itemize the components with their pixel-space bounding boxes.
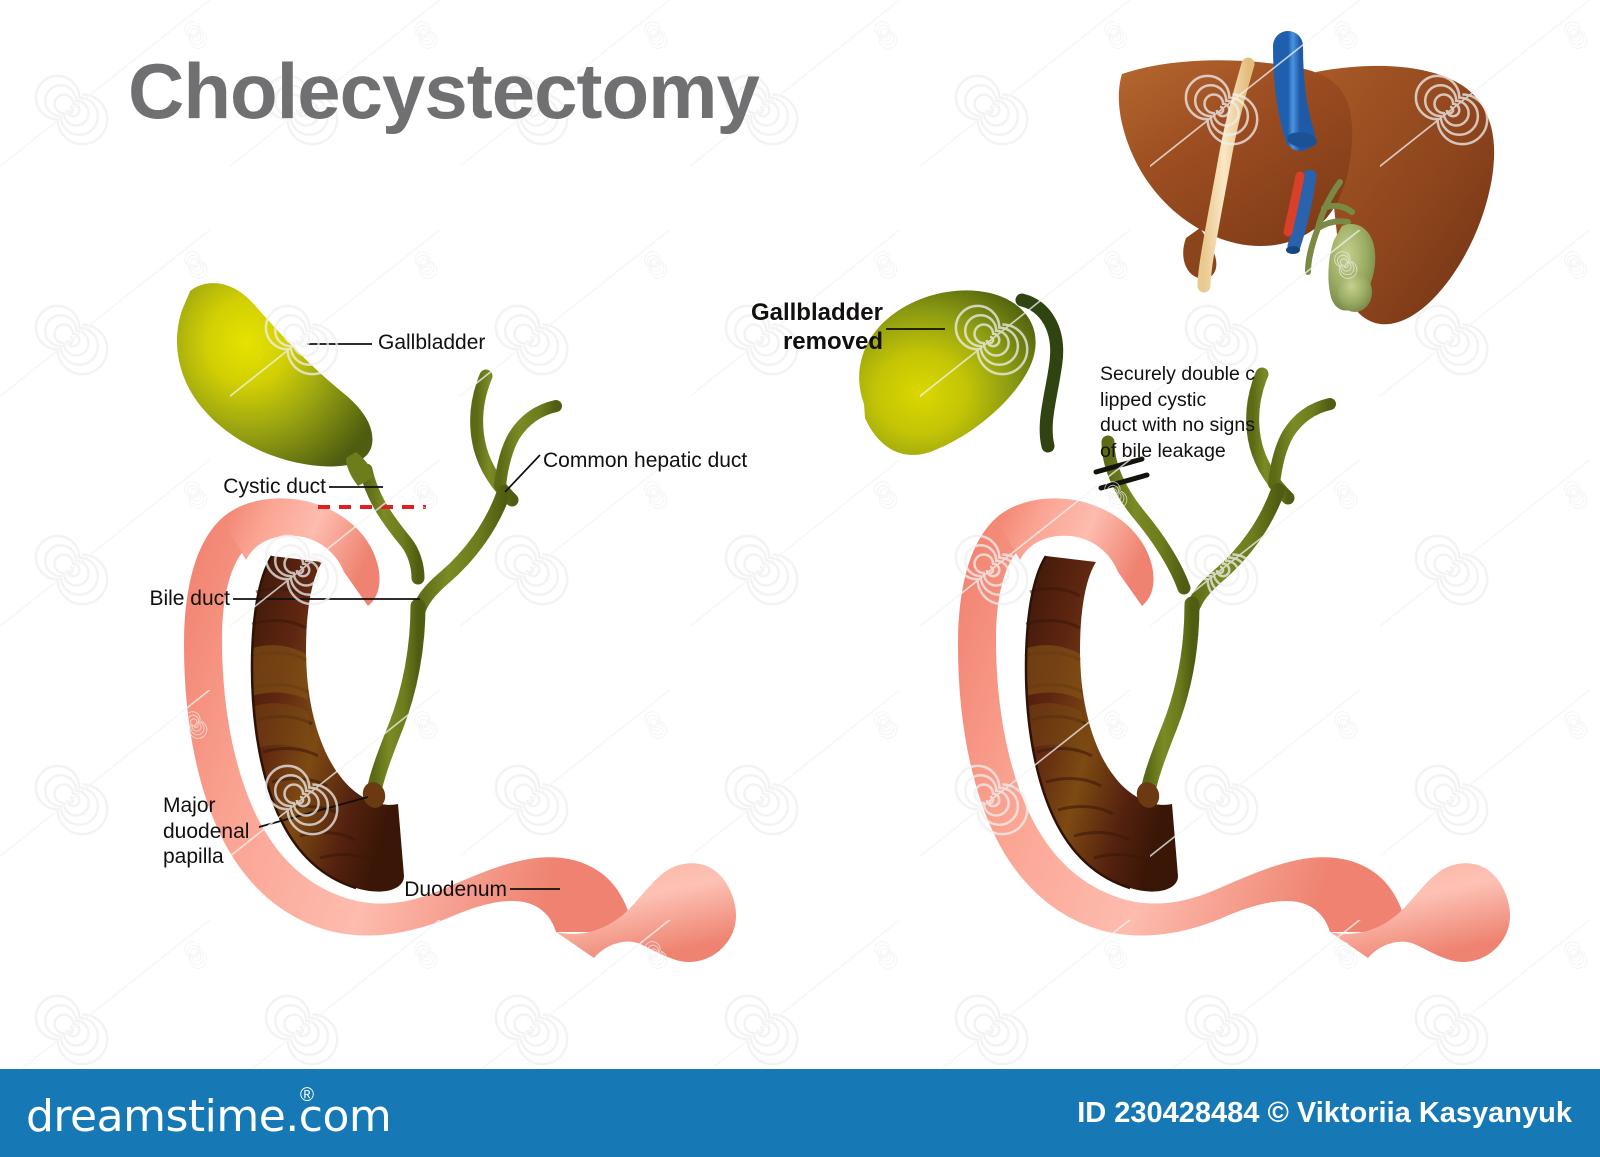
label-bile-duct: Bile duct — [0, 586, 230, 612]
label-common-hepatic-duct: Common hepatic duct — [543, 448, 747, 474]
label-gallbladder: Gallbladder — [378, 330, 485, 356]
label-major-duodenal-papilla: Major duodenal papilla — [163, 793, 249, 870]
anatomy-artwork — [0, 0, 1600, 1157]
dreamstime-logo[interactable]: dreamstime.com — [26, 1091, 391, 1142]
label-duodenum: Duodenum — [0, 877, 507, 903]
illustration-canvas: Cholecystectomy Gallbladder Cystic duct … — [0, 0, 1600, 1157]
note-secure-clip: Securely double c lipped cystic duct wit… — [1100, 362, 1255, 465]
watermark-footer-bar: dreamstime.com ® ID 230428484 © Viktorii… — [0, 1069, 1600, 1157]
heading-gallbladder-removed: Gallbladder removed — [600, 298, 883, 357]
page-title: Cholecystectomy — [128, 52, 759, 130]
registered-mark-icon: ® — [300, 1085, 314, 1107]
image-credit: ID 230428484 © Viktoriia Kasyanyuk — [1077, 1097, 1572, 1130]
watermark-overlay — [0, 0, 1600, 1069]
label-cystic-duct: Cystic duct — [0, 474, 326, 500]
